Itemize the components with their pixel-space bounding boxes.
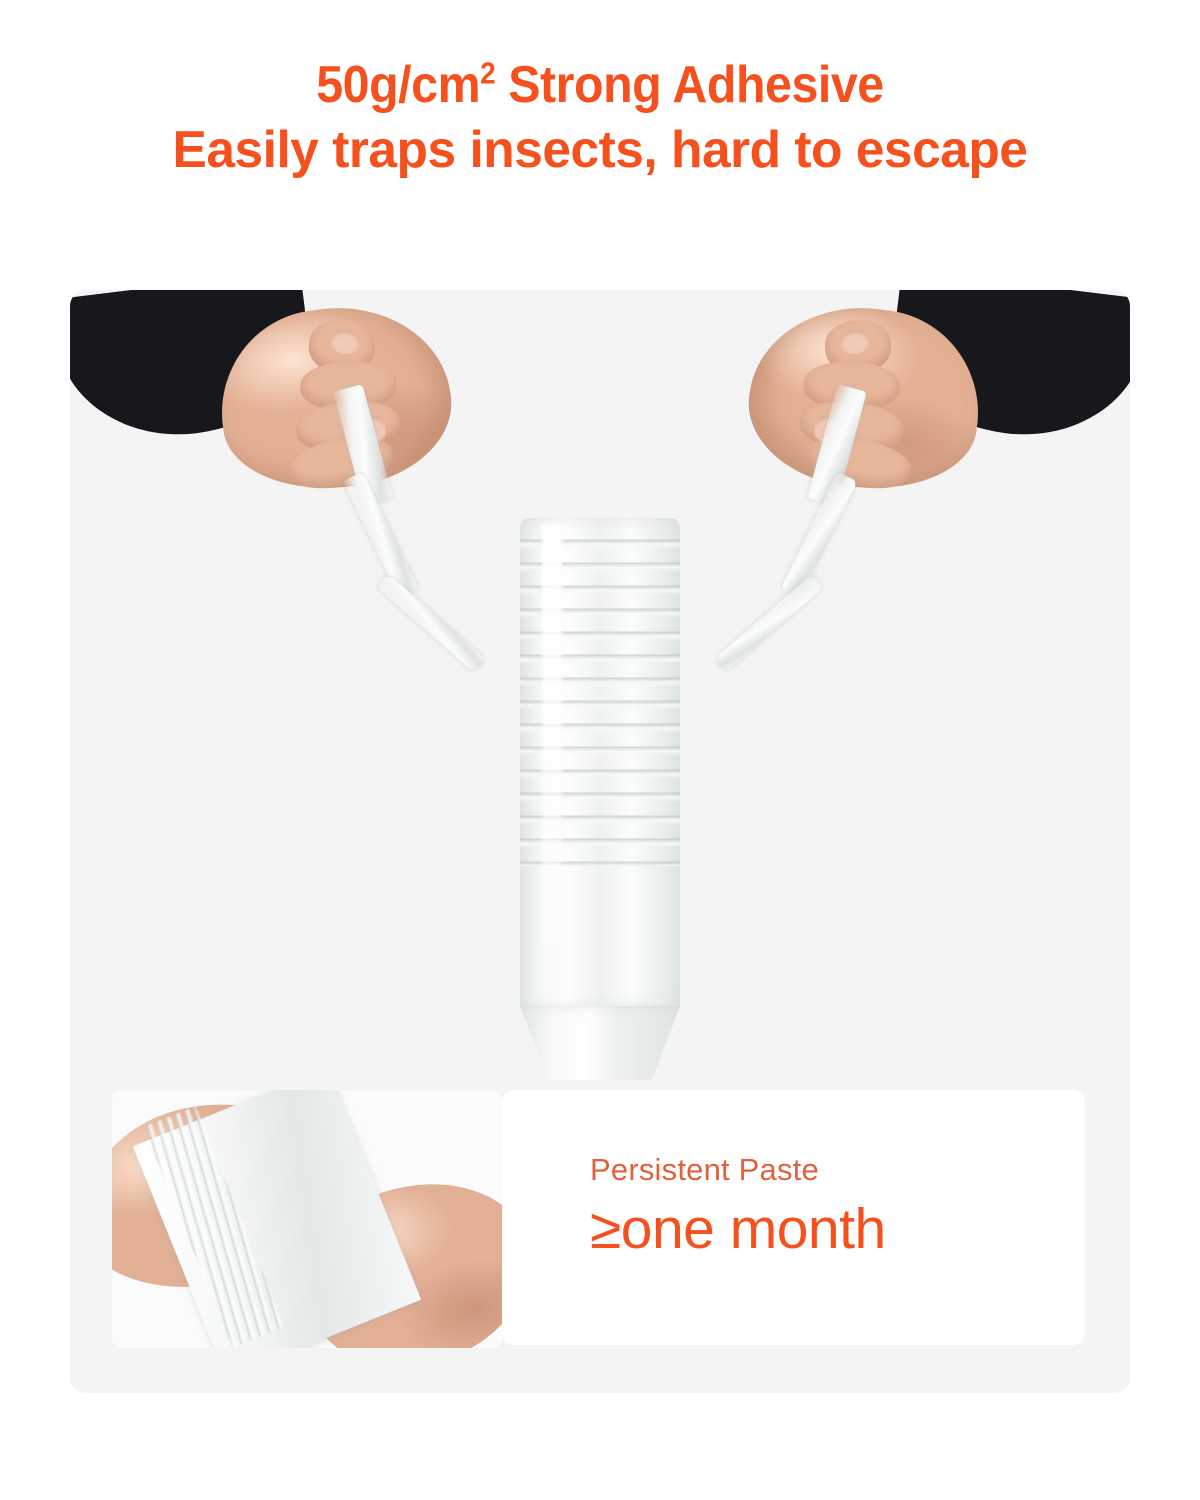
headline-superscript: 2 — [480, 58, 495, 91]
bottom-row: Persistent Paste ≥one month — [70, 1080, 1130, 1393]
headline-line-1-suffix: Strong Adhesive — [495, 56, 883, 114]
persistent-paste-card: Persistent Paste ≥one month — [502, 1090, 1085, 1345]
headline-line-1-prefix: 50g/cm — [316, 56, 480, 114]
right-adhesive-strand-lower — [714, 574, 824, 673]
headline-line-1: 50g/cm2 Strong Adhesive — [42, 58, 1158, 113]
bottle-body — [520, 518, 680, 1008]
persistent-paste-photo — [112, 1090, 502, 1348]
headline-block: 50g/cm2 Strong Adhesive Easily traps ins… — [0, 58, 1200, 178]
persistent-paste-card-content: Persistent Paste ≥one month — [590, 1152, 886, 1262]
persistent-paste-duration: ≥one month — [590, 1196, 886, 1262]
left-adhesive-strand-lower — [376, 574, 486, 673]
persistent-paste-label: Persistent Paste — [590, 1152, 886, 1188]
main-content-panel: Persistent Paste ≥one month — [70, 290, 1130, 1393]
hero-adhesive-photo — [70, 290, 1130, 1080]
headline-line-2: Easily traps insects, hard to escape — [6, 123, 1194, 178]
bottle-shoulder — [520, 1006, 680, 1080]
plastic-bottle — [520, 518, 680, 1080]
